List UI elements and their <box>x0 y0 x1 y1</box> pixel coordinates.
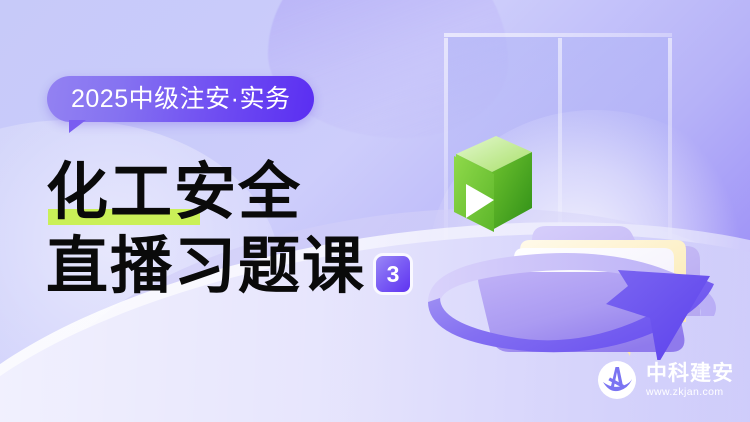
episode-number-badge: 3 <box>376 256 410 292</box>
tagline-pill-body: 2025中级注安·实务 <box>47 76 314 122</box>
tagline-pill-tail <box>69 120 86 133</box>
headline-line-1: 化工安全 <box>46 160 466 224</box>
circle-person-swoosh-logo-icon <box>597 360 637 400</box>
decor-window-top-rail <box>444 33 672 37</box>
brand-text-block: 中科建安 www.zkjan.com <box>646 363 734 398</box>
headline-line-2: 直播习题课 3 <box>46 234 466 298</box>
course-banner: 2025中级注安·实务 化工安全 直播习题课 3 中科建安 <box>0 0 750 422</box>
episode-number-text: 3 <box>387 263 400 286</box>
brand-name: 中科建安 <box>646 363 734 384</box>
headline-text-1: 化工安全 <box>46 162 302 224</box>
tagline-text: 2025中级注安·实务 <box>71 87 290 112</box>
headline-block: 化工安全 直播习题课 3 <box>46 160 466 298</box>
headline-text-2: 直播习题课 <box>46 236 366 298</box>
brand-logo: 中科建安 www.zkjan.com <box>597 360 734 400</box>
brand-url: www.zkjan.com <box>646 387 734 398</box>
tagline-pill: 2025中级注安·实务 <box>47 76 314 122</box>
